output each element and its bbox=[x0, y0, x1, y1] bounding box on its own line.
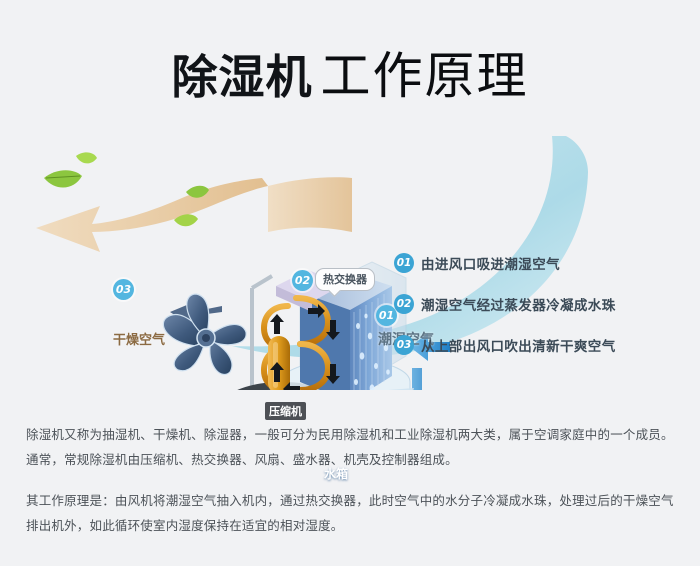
step-badge-02: 02 bbox=[394, 294, 414, 314]
paragraph-definition-line-2: 通常，常规除湿机由压缩机、热交换器、风扇、盛水器、机壳及控制器组成。 bbox=[26, 448, 676, 473]
callout-heat-exchanger: 热交换器 bbox=[315, 268, 375, 291]
paragraph-principle-line-1: 其工作原理是：由风机将潮湿空气抽入机内，通过热交换器，此时空气中的水分子冷凝成水… bbox=[26, 489, 676, 514]
label-compressor: 压缩机 bbox=[265, 402, 306, 420]
page-title-primary: 除湿机 bbox=[172, 50, 313, 104]
step-item-01: 01 由进风口吸进潮湿空气 bbox=[394, 253, 694, 273]
paragraph-principle: 其工作原理是：由风机将潮湿空气抽入机内，通过热交换器，此时空气中的水分子冷凝成水… bbox=[26, 489, 676, 539]
diagram-badge-02: 02 bbox=[292, 270, 313, 291]
diagram-badge-03: 03 bbox=[113, 279, 134, 300]
step-badge-01: 01 bbox=[394, 253, 414, 273]
step-text-03: 从上部出风口吹出清新干爽空气 bbox=[421, 335, 616, 355]
step-item-02: 02 潮湿空气经过蒸发器冷凝成水珠 bbox=[394, 294, 694, 314]
page-title-secondary: 工作原理 bbox=[321, 47, 529, 105]
step-item-03: 03 从上部出风口吹出清新干爽空气 bbox=[394, 335, 694, 355]
paragraph-definition-line-1: 除湿机又称为抽湿机、干燥机、除湿器，一般可分为民用除湿机和工业除湿机两大类，属于… bbox=[26, 423, 676, 448]
paragraph-principle-line-2: 排出机外，如此循环使室内湿度保持在适宜的相对湿度。 bbox=[26, 514, 676, 539]
leaf-icon bbox=[44, 152, 209, 226]
step-text-02: 潮湿空气经过蒸发器冷凝成水珠 bbox=[421, 294, 616, 314]
fan-icon bbox=[163, 294, 246, 374]
paragraph-definition: 除湿机又称为抽湿机、干燥机、除湿器，一般可分为民用除湿机和工业除湿机两大类，属于… bbox=[26, 423, 676, 473]
label-dry-air: 干燥空气 bbox=[113, 329, 165, 348]
step-list: 01 由进风口吸进潮湿空气 02 潮湿空气经过蒸发器冷凝成水珠 03 从上部出风… bbox=[394, 253, 694, 376]
step-badge-03: 03 bbox=[394, 335, 414, 355]
step-text-01: 由进风口吸进潮湿空气 bbox=[421, 253, 560, 273]
page-title: 除湿机工作原理 bbox=[0, 36, 700, 108]
page-root: 除湿机工作原理 bbox=[0, 0, 700, 566]
